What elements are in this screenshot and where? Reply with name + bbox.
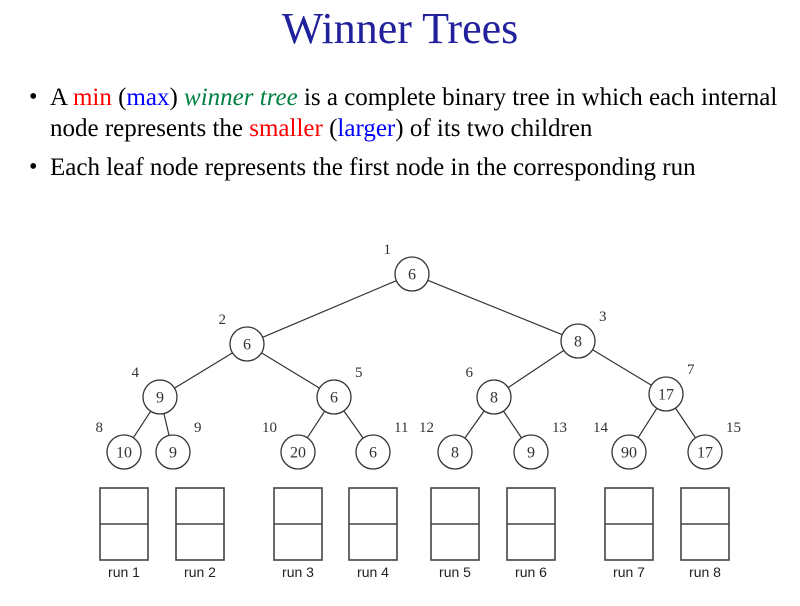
run-box-outline	[605, 488, 653, 560]
run-box-label: run 1	[108, 564, 140, 580]
bullet-text-segment: smaller	[249, 115, 323, 142]
tree-node-circle	[230, 327, 264, 361]
tree-node-index-label: 13	[552, 420, 567, 436]
bullet-item: • Each leaf node represents the first no…	[22, 152, 778, 183]
tree-edge	[133, 411, 150, 438]
run-box[interactable]: run 8	[681, 488, 729, 580]
tree-node-value: 17	[697, 445, 713, 462]
tree-edge	[465, 411, 484, 438]
bullet-text-segment: max	[126, 84, 169, 111]
bullet-item: • A min (max) winner tree is a complete …	[22, 82, 778, 144]
bullet-text-segment: A	[50, 84, 73, 111]
tree-edge	[175, 353, 233, 388]
tree-node-circle	[143, 380, 177, 414]
tree-node-circle	[612, 435, 646, 469]
tree-node[interactable]: 913	[514, 420, 567, 469]
run-box-label: run 6	[515, 564, 547, 580]
tree-node-circle	[649, 377, 683, 411]
tree-nodes: 6162839465861771089920106118129139014171…	[96, 242, 742, 469]
tree-node-index-label: 7	[687, 362, 695, 378]
tree-node[interactable]: 611	[356, 420, 408, 469]
tree-edge	[263, 281, 397, 338]
tree-node-index-label: 1	[384, 242, 392, 258]
tree-edge	[508, 350, 564, 387]
bullet-text-2: Each leaf node represents the first node…	[50, 152, 778, 183]
tree-node-index-label: 5	[355, 365, 363, 381]
run-box[interactable]: run 7	[605, 488, 653, 580]
tree-node[interactable]: 94	[132, 365, 178, 414]
tree-node-index-label: 8	[96, 420, 104, 436]
run-box-outline	[507, 488, 555, 560]
tree-node-value: 6	[243, 337, 251, 354]
tree-node[interactable]: 108	[96, 420, 142, 469]
tree-node-circle	[356, 435, 390, 469]
run-box[interactable]: run 4	[349, 488, 397, 580]
run-box-label: run 5	[439, 564, 471, 580]
bullet-text-segment: Each leaf node represents the first node…	[50, 154, 696, 181]
tree-node[interactable]: 65	[317, 365, 363, 414]
tree-node[interactable]: 812	[419, 420, 472, 469]
tree-node-value: 6	[369, 445, 377, 462]
tree-node-circle	[438, 435, 472, 469]
tree-node-index-label: 2	[219, 312, 227, 328]
tree-node-value: 10	[116, 445, 132, 462]
run-box[interactable]: run 6	[507, 488, 555, 580]
tree-node[interactable]: 2010	[262, 420, 315, 469]
run-box[interactable]: run 1	[100, 488, 148, 580]
tree-node-value: 17	[658, 387, 674, 404]
tree-node-circle	[317, 380, 351, 414]
tree-node-circle	[156, 435, 190, 469]
tree-node-index-label: 11	[394, 420, 408, 436]
tree-node[interactable]: 99	[156, 420, 202, 469]
tree-node-circle	[477, 380, 511, 414]
tree-node[interactable]: 61	[384, 242, 430, 291]
run-box-outline	[681, 488, 729, 560]
tree-node-index-label: 3	[599, 309, 607, 325]
run-box-label: run 4	[357, 564, 389, 580]
run-box-outline	[100, 488, 148, 560]
tree-node-index-label: 9	[194, 420, 202, 436]
tree-edge	[307, 411, 324, 438]
tree-node-index-label: 10	[262, 420, 277, 436]
tree-node-value: 8	[451, 445, 459, 462]
run-box-outline	[274, 488, 322, 560]
bullet-text-segment: winner tree	[184, 84, 298, 111]
run-box[interactable]: run 5	[431, 488, 479, 580]
run-box-label: run 7	[613, 564, 645, 580]
tree-node-index-label: 15	[726, 420, 741, 436]
tree-node-circle	[688, 435, 722, 469]
tree-node-value: 8	[574, 334, 582, 351]
tree-edge	[503, 411, 521, 438]
run-boxes: run 1run 2run 3run 4run 5run 6run 7run 8	[100, 488, 729, 580]
bullet-text-segment: larger	[337, 115, 395, 142]
run-box-outline	[431, 488, 479, 560]
tree-node-circle	[514, 435, 548, 469]
run-box[interactable]: run 3	[274, 488, 322, 580]
tree-node-index-label: 12	[419, 420, 434, 436]
tree-node-value: 90	[621, 445, 637, 462]
tree-edge	[164, 414, 169, 436]
bullet-text-segment: (	[323, 115, 338, 142]
tree-node-circle	[395, 257, 429, 291]
tree-node-value: 6	[330, 390, 338, 407]
bullet-text-1: A min (max) winner tree is a complete bi…	[50, 82, 778, 144]
tree-node-circle	[281, 435, 315, 469]
tree-node-value: 9	[527, 445, 535, 462]
tree-edge	[593, 350, 652, 385]
run-box[interactable]: run 2	[176, 488, 224, 580]
bullet-marker-icon: •	[22, 152, 50, 183]
tree-node[interactable]: 86	[466, 365, 512, 414]
tree-node[interactable]: 1715	[688, 420, 741, 469]
tree-edge	[428, 280, 562, 334]
tree-node-value: 6	[408, 267, 416, 284]
run-box-label: run 8	[689, 564, 721, 580]
tree-node-circle	[107, 435, 141, 469]
tree-edge	[638, 408, 657, 437]
tree-node-circle	[561, 324, 595, 358]
tree-node-value: 9	[156, 390, 164, 407]
bullet-text-segment: ) of its two children	[395, 115, 592, 142]
tree-node[interactable]: 177	[649, 362, 695, 411]
tree-node-value: 20	[290, 445, 306, 462]
tree-node-value: 8	[490, 390, 498, 407]
tree-edge	[262, 353, 320, 388]
tree-node-index-label: 14	[593, 420, 609, 436]
slide-root: Winner Trees • A min (max) winner tree i…	[0, 0, 800, 606]
tree-node[interactable]: 62	[219, 312, 265, 361]
run-box-outline	[349, 488, 397, 560]
run-box-outline	[176, 488, 224, 560]
bullet-text-segment: (	[112, 84, 127, 111]
tree-node-index-label: 6	[466, 365, 474, 381]
bullet-marker-icon: •	[22, 82, 50, 113]
page-title: Winner Trees	[0, 4, 800, 53]
tree-node-index-label: 4	[132, 365, 140, 381]
tree-edge	[344, 411, 363, 438]
tree-edges	[133, 280, 695, 438]
run-box-label: run 3	[282, 564, 314, 580]
bullet-text-segment: )	[169, 84, 184, 111]
bullet-text-segment: min	[73, 84, 112, 111]
tree-node-value: 9	[169, 445, 177, 462]
tree-node[interactable]: 9014	[593, 420, 646, 469]
bullet-list: • A min (max) winner tree is a complete …	[22, 82, 778, 186]
tree-edge	[675, 408, 695, 438]
run-box-label: run 2	[184, 564, 216, 580]
tree-node[interactable]: 83	[561, 309, 607, 358]
